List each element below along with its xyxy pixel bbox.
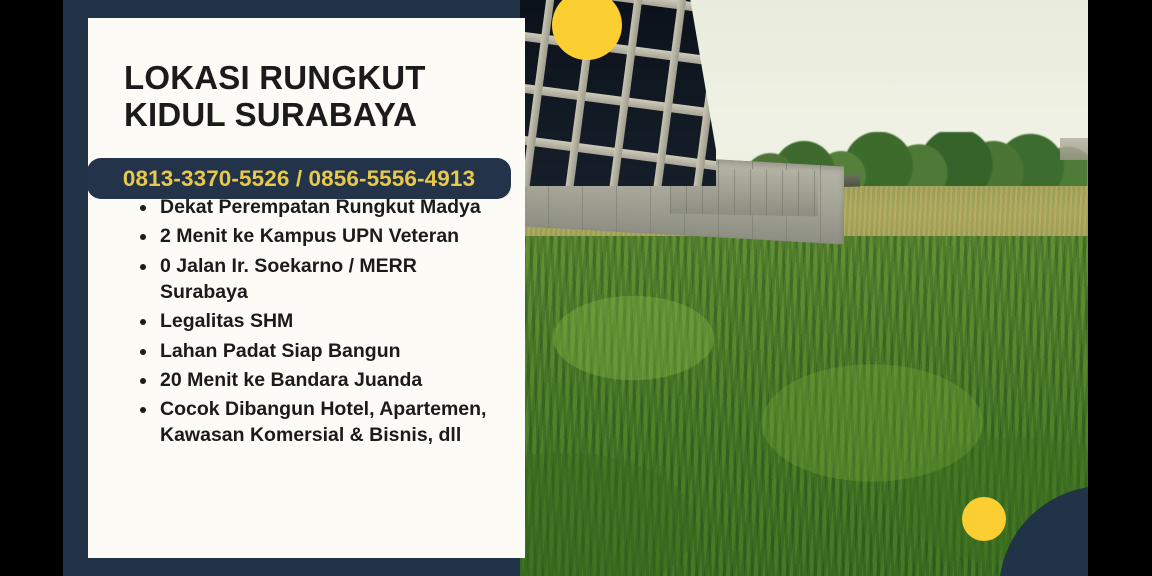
info-card: LOKASI RUNGKUT KIDUL SURABAYA 0813-3370-… xyxy=(88,18,525,558)
list-item: Lahan Padat Siap Bangun xyxy=(140,339,507,365)
letterbox-right xyxy=(1088,0,1152,576)
info-card-content: LOKASI RUNGKUT KIDUL SURABAYA 0813-3370-… xyxy=(88,18,525,558)
list-item: 2 Menit ke Kampus UPN Veteran xyxy=(140,224,507,250)
poster-background: LOKASI RUNGKUT KIDUL SURABAYA 0813-3370-… xyxy=(63,0,1088,576)
list-item: Legalitas SHM xyxy=(140,309,507,335)
photo-distant-buildings xyxy=(1060,138,1088,160)
location-photo xyxy=(520,0,1088,576)
page-title: LOKASI RUNGKUT KIDUL SURABAYA xyxy=(88,60,525,134)
list-item: 0 Jalan Ir. Soekarno / MERR Surabaya xyxy=(140,254,507,306)
list-item: Dekat Perempatan Rungkut Madya xyxy=(140,195,507,221)
poster-stage: LOKASI RUNGKUT KIDUL SURABAYA 0813-3370-… xyxy=(0,0,1152,576)
yellow-circle-decoration-bottom xyxy=(962,497,1006,541)
list-item: 20 Menit ke Bandara Juanda xyxy=(140,368,507,394)
phone-badge-label: 0813-3370-5526 / 0856-5556-4913 xyxy=(123,166,475,192)
phone-badge[interactable]: 0813-3370-5526 / 0856-5556-4913 xyxy=(87,158,511,199)
letterbox-left xyxy=(0,0,63,576)
list-item: Cocok Dibangun Hotel, Apartemen, Kawasan… xyxy=(140,397,507,449)
page-title-line-2: KIDUL SURABAYA xyxy=(124,97,501,134)
page-title-line-1: LOKASI RUNGKUT xyxy=(124,59,426,96)
